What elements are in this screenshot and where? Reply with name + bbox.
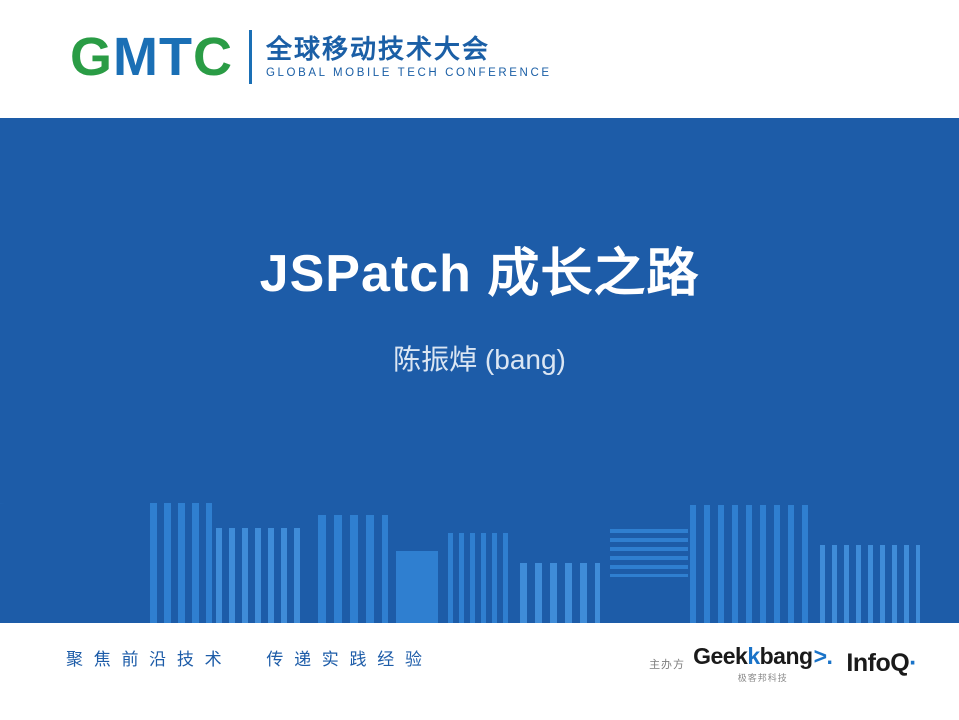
geekbang-wordmark: Geekkbang>. [693,643,832,670]
geekbang-arrow-icon: >. [814,643,833,670]
geekbang-subtitle: 极客邦科技 [738,671,788,684]
logo-letter-t: T [159,30,193,84]
slogan-left: 聚 焦 前 沿 技 术 [66,650,225,669]
stripe-block-b [216,528,306,623]
infoq-wordmark: InfoQ [846,649,909,678]
gmtc-wordmark: G M T C [70,30,233,84]
logo-chinese-name: 全球移动技术大会 [266,35,552,65]
geekbang-part3: bang [760,643,813,670]
footer-slogan: 聚 焦 前 沿 技 术 传 递 实 践 经 验 [66,645,459,670]
sponsor-label: 主办方 [649,656,685,672]
footer-bar: 聚 焦 前 沿 技 术 传 递 实 践 经 验 主办方 Geekkbang>. … [0,623,959,720]
stripe-block-a [150,503,212,623]
stripe-block-h [820,545,920,623]
stripe-block-c [318,515,388,623]
logo-letter-g: G [70,30,113,84]
stripe-block-e [448,533,508,623]
infoq-logo: InfoQ· [846,649,917,678]
logo-english-name: GLOBAL MOBILE TECH CONFERENCE [266,67,552,79]
logo-letter-m: M [113,30,159,84]
stripe-block-g [690,505,810,623]
decorative-pattern [0,503,959,623]
geekbang-part2: k [747,643,759,670]
gmtc-logo: G M T C 全球移动技术大会 GLOBAL MOBILE TECH CONF… [70,30,552,84]
slogan-right: 传 递 实 践 经 验 [266,650,425,669]
sponsor-block: 主办方 Geekkbang>. 极客邦科技 InfoQ· [649,643,917,684]
horizontal-line-pattern [610,529,688,577]
presentation-slide: G M T C 全球移动技术大会 GLOBAL MOBILE TECH CONF… [0,0,959,720]
slide-subtitle: 陈振焯 (bang) [0,338,959,378]
logo-text-block: 全球移动技术大会 GLOBAL MOBILE TECH CONFERENCE [266,35,552,80]
header-bar: G M T C 全球移动技术大会 GLOBAL MOBILE TECH CONF… [0,0,959,118]
logo-divider [249,30,252,84]
geekbang-part1: Geek [693,643,747,670]
logo-letter-c: C [193,30,233,84]
infoq-dot-icon: · [909,649,917,678]
geekbang-logo: Geekkbang>. 极客邦科技 [693,643,832,684]
stripe-block-f [520,563,600,623]
slide-title: JSPatch 成长之路 [0,231,959,306]
stripe-block-d [396,551,438,623]
slide-body: JSPatch 成长之路 陈振焯 (bang) [0,118,959,623]
